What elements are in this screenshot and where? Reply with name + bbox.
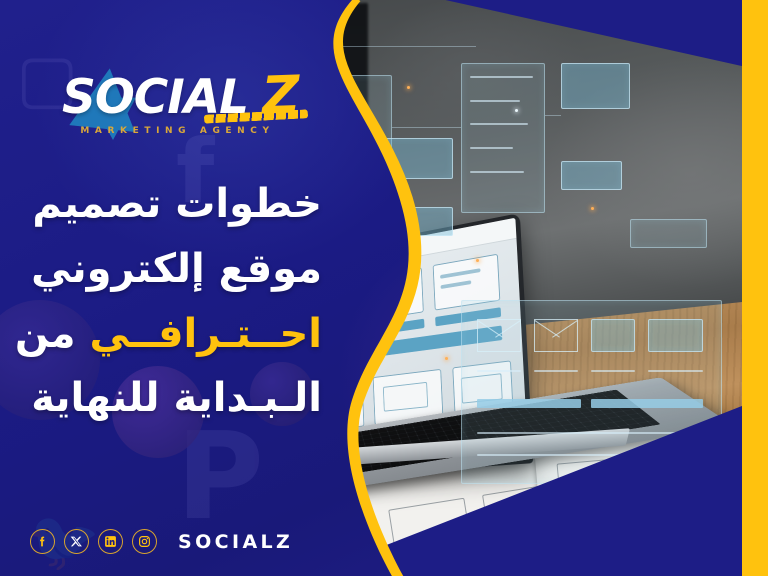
footer-bar: SOCIALZ — [30, 529, 293, 554]
headline-line-1: خطوات تصميم — [0, 172, 322, 237]
poster-canvas: 👻 f P 🐦 ▢ SOCIAL Z MARKETING AGENCY خطوا… — [0, 0, 768, 576]
logo-tagline: MARKETING AGENCY — [70, 126, 285, 136]
instagram-icon[interactable] — [132, 529, 157, 554]
x-twitter-icon[interactable] — [64, 529, 89, 554]
linkedin-icon[interactable] — [98, 529, 123, 554]
brand-logo: SOCIAL Z MARKETING AGENCY — [62, 64, 292, 142]
footer-brand-name: SOCIALZ — [178, 531, 293, 553]
facebook-icon[interactable] — [30, 529, 55, 554]
headline-line-3-white: من — [15, 311, 76, 357]
headline-block: خطوات تصميم موقع إلكتروني احــتـرافــي م… — [0, 172, 336, 431]
headline-line-3: احــتـرافــي من — [0, 302, 322, 367]
headline-line-2: موقع إلكتروني — [0, 237, 322, 302]
headline-line-3-gold: احــتـرافــي — [90, 311, 322, 357]
headline-line-4: الـبـداية للنهاية — [0, 366, 322, 431]
